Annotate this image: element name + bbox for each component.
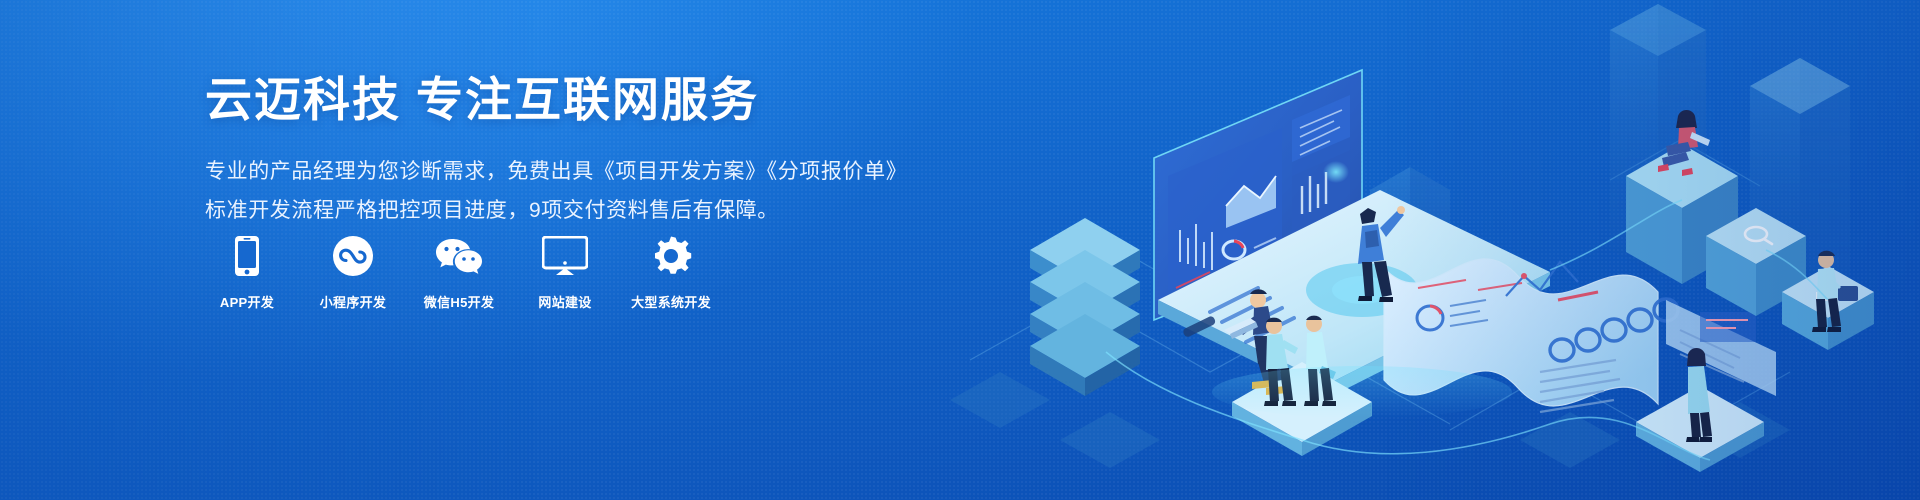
service-item-wechat-h5[interactable]: 微信H5开发: [415, 232, 503, 311]
mobile-phone-icon: [234, 232, 260, 280]
service-list: APP开发 小程序开发 微信: [203, 232, 715, 311]
service-item-mini-program[interactable]: 小程序开发: [309, 232, 397, 311]
hero-subtitle: 专业的产品经理为您诊断需求，免费出具《项目开发方案》《分项报价单》 标准开发流程…: [205, 153, 905, 229]
subtitle-line-2: 标准开发流程严格把控项目进度，9项交付资料售后有保障。: [205, 192, 905, 230]
woman-on-tile: [1686, 348, 1712, 442]
tablet-platform: [1158, 190, 1550, 398]
hero-copy: 云迈科技 专注互联网服务 专业的产品经理为您诊断需求，免费出具《项目开发方案》《…: [205, 72, 905, 230]
page-title: 云迈科技 专注互联网服务: [205, 72, 905, 127]
sitting-person-laptop: [1224, 289, 1287, 395]
monitor-icon: [542, 232, 588, 280]
dashboard-screen: [1154, 70, 1362, 320]
standing-person-pointing: [1358, 206, 1405, 302]
service-label: APP开发: [220, 292, 274, 311]
service-item-large-system[interactable]: 大型系统开发: [627, 232, 715, 311]
two-people-platform: [1264, 316, 1336, 406]
service-label: 大型系统开发: [631, 292, 711, 311]
mini-program-icon: [332, 232, 374, 280]
gear-icon: [650, 232, 692, 280]
isometric-illustration: [910, 0, 1920, 500]
server-stack: [1030, 218, 1140, 396]
subtitle-line-1: 专业的产品经理为您诊断需求，免费出具《项目开发方案》《分项报价单》: [205, 153, 905, 191]
hero-banner: 云迈科技 专注互联网服务 专业的产品经理为您诊断需求，免费出具《项目开发方案》《…: [0, 0, 1920, 500]
man-with-briefcase: [1812, 251, 1858, 332]
service-label: 网站建设: [538, 292, 591, 311]
tile-platforms: [1232, 362, 1764, 472]
wechat-icon: [435, 232, 483, 280]
step-blocks: [1626, 144, 1874, 350]
service-label: 小程序开发: [320, 292, 387, 311]
woman-on-block: [1658, 110, 1710, 176]
service-label: 微信H5开发: [424, 292, 494, 311]
data-report-scroll: [1384, 259, 1776, 412]
service-item-app[interactable]: APP开发: [203, 232, 291, 311]
service-item-website[interactable]: 网站建设: [521, 232, 609, 311]
